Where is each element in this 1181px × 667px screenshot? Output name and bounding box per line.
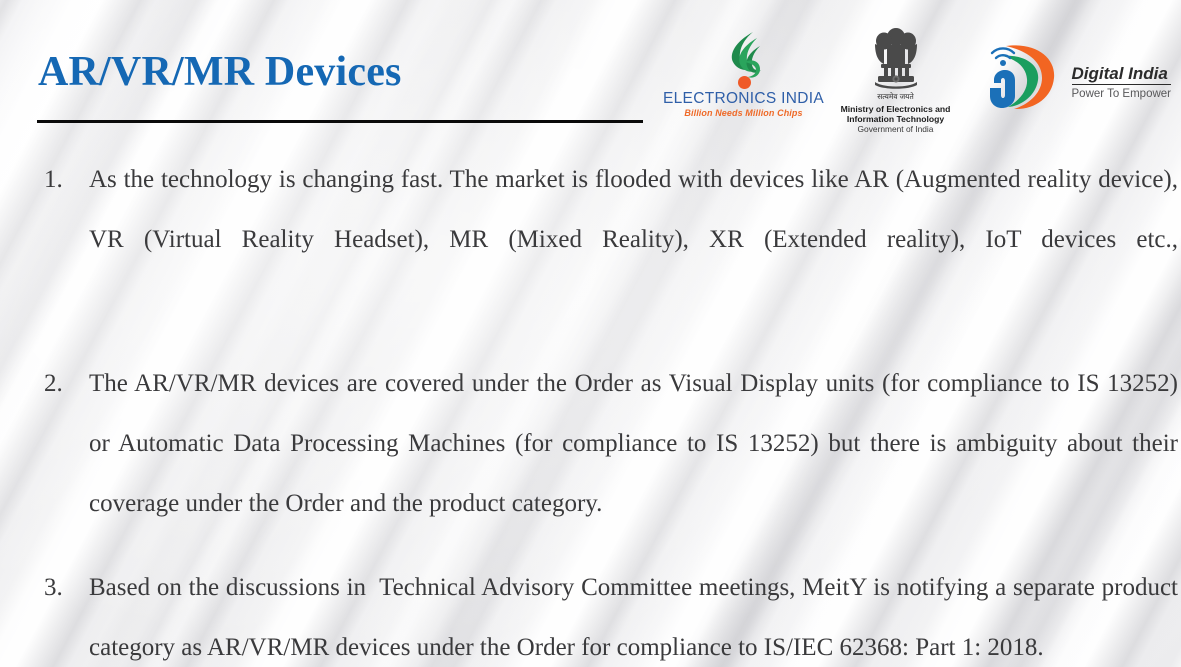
green-flame-swirl-icon	[713, 28, 775, 90]
meity-logo: सत्यमेव जयते Ministry of Electronics and…	[836, 26, 956, 134]
digital-india-name: Digital India	[1072, 64, 1172, 85]
list-item: 1. As the technology is changing fast. T…	[0, 150, 1181, 330]
presentation-slide: AR/VR/MR Devices ELECTRONICS INDIA Billi…	[0, 0, 1181, 667]
meity-line-1: Ministry of Electronics and	[841, 104, 951, 114]
digital-india-tagline: Power To Empower	[1072, 87, 1172, 101]
electronics-india-name: ELECTRONICS INDIA	[663, 90, 824, 107]
list-item: 2. The AR/VR/MR devices are covered unde…	[0, 354, 1181, 534]
title-underline-rule	[37, 120, 643, 123]
page-title: AR/VR/MR Devices	[38, 48, 402, 96]
ashoka-lion-capital-emblem-icon	[865, 26, 927, 92]
list-item-text: Based on the discussions in Technical Ad…	[89, 558, 1178, 667]
satyameva-jayate-motto: सत्यमेव जयते	[877, 92, 914, 101]
list-item-number: 3.	[44, 558, 63, 618]
electronics-india-tagline: Billion Needs Million Chips	[684, 108, 802, 118]
slide-header: AR/VR/MR Devices ELECTRONICS INDIA Billi…	[0, 0, 1181, 140]
digital-india-swoosh-i-icon	[978, 40, 1066, 114]
electronics-india-logo: ELECTRONICS INDIA Billion Needs Million …	[674, 26, 814, 118]
orange-dot-icon	[738, 76, 751, 89]
list-item: 3. Based on the discussions in Technical…	[0, 558, 1181, 667]
list-item-text: The AR/VR/MR devices are covered under t…	[89, 354, 1178, 534]
meity-line-3: Government of India	[858, 124, 934, 134]
slide-body: 1. As the technology is changing fast. T…	[0, 150, 1181, 667]
digital-india-logo: Digital India Power To Empower	[978, 26, 1176, 114]
list-item-number: 2.	[44, 354, 63, 414]
list-item-number: 1.	[44, 150, 63, 210]
logo-group: ELECTRONICS INDIA Billion Needs Million …	[674, 26, 1176, 134]
meity-line-2: Information Technology	[847, 114, 944, 124]
digital-india-text: Digital India Power To Empower	[1072, 54, 1172, 101]
list-item-text: As the technology is changing fast. The …	[89, 150, 1178, 330]
